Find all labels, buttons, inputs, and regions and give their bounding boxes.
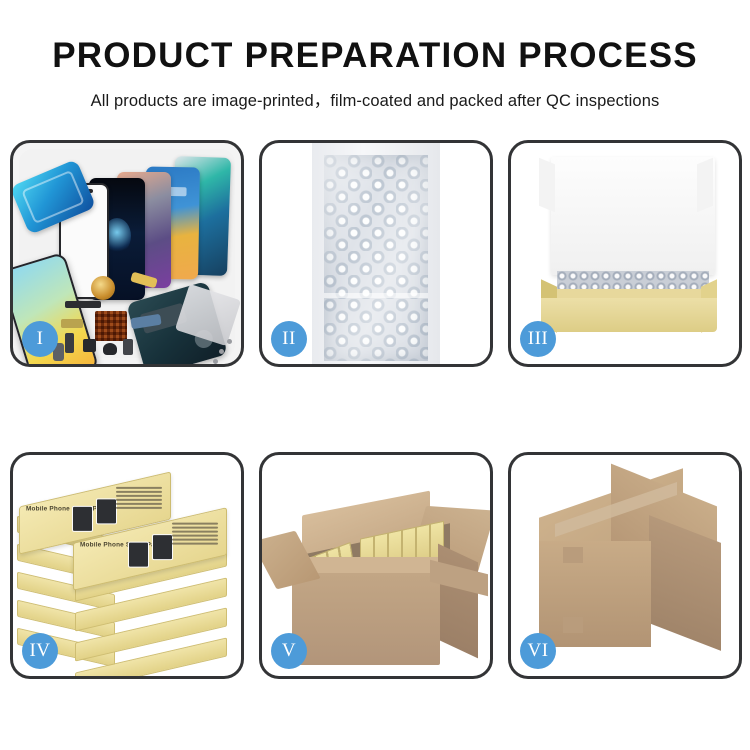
wrap-seam (324, 293, 428, 298)
step-badge-6: VI (520, 633, 556, 669)
wireless-charging-coil-icon (91, 276, 115, 300)
copper-mesh-chip-icon (95, 311, 127, 341)
box-lid-left-flap (539, 158, 555, 212)
carton-front-face (539, 541, 651, 647)
carton-handle-tab (563, 547, 583, 563)
process-steps-grid: I II (10, 140, 742, 679)
screw-icon (213, 359, 218, 364)
box-screen-print-icon (96, 498, 117, 524)
product-preparation-page: PRODUCT PREPARATION PROCESS All products… (0, 0, 750, 750)
box-spec-lines (116, 487, 162, 513)
step-panel-1[interactable]: I (10, 140, 244, 367)
connector-part-icon (61, 319, 83, 328)
box-screen-print-icon (152, 534, 173, 560)
screw-icon (227, 339, 232, 344)
page-subtitle: All products are image-printed，film-coat… (0, 75, 750, 111)
page-title: PRODUCT PREPARATION PROCESS (0, 0, 750, 75)
carton-handle-tab (563, 617, 583, 633)
step-badge-2: II (271, 321, 307, 357)
step-badge-4: IV (22, 633, 58, 669)
box-lid-white-icon (551, 157, 715, 275)
step-badge-1: I (22, 321, 58, 357)
kraft-box-front-icon (541, 298, 717, 332)
box-spec-lines (172, 523, 218, 549)
small-part-icon (65, 333, 74, 353)
earpiece-strip-icon (65, 301, 101, 308)
carton-front-face (292, 573, 440, 665)
carton-right-side (438, 544, 478, 659)
camera-module-icon (83, 339, 96, 352)
box-screen-print-icon (128, 542, 149, 568)
battery-connector-icon (123, 339, 133, 355)
step-panel-4[interactable]: Mobile Phone Spare Parts Mobile Phone Sp… (10, 452, 244, 679)
wrap-sheen (324, 155, 428, 361)
step-badge-3: III (520, 321, 556, 357)
step-panel-2[interactable]: II (259, 140, 493, 367)
step-panel-6[interactable]: VI (508, 452, 742, 679)
page-header: PRODUCT PREPARATION PROCESS All products… (0, 0, 750, 111)
step-panel-3[interactable]: III (508, 140, 742, 367)
process-row-bottom: Mobile Phone Spare Parts Mobile Phone Sp… (10, 452, 742, 679)
box-screen-print-icon (72, 506, 93, 532)
step-panel-5[interactable]: V (259, 452, 493, 679)
screw-icon (219, 349, 224, 354)
step-badge-5: V (271, 633, 307, 669)
speaker-part-icon (103, 343, 117, 355)
box-lid-right-flap (697, 158, 713, 212)
process-row-top: I II (10, 140, 742, 367)
